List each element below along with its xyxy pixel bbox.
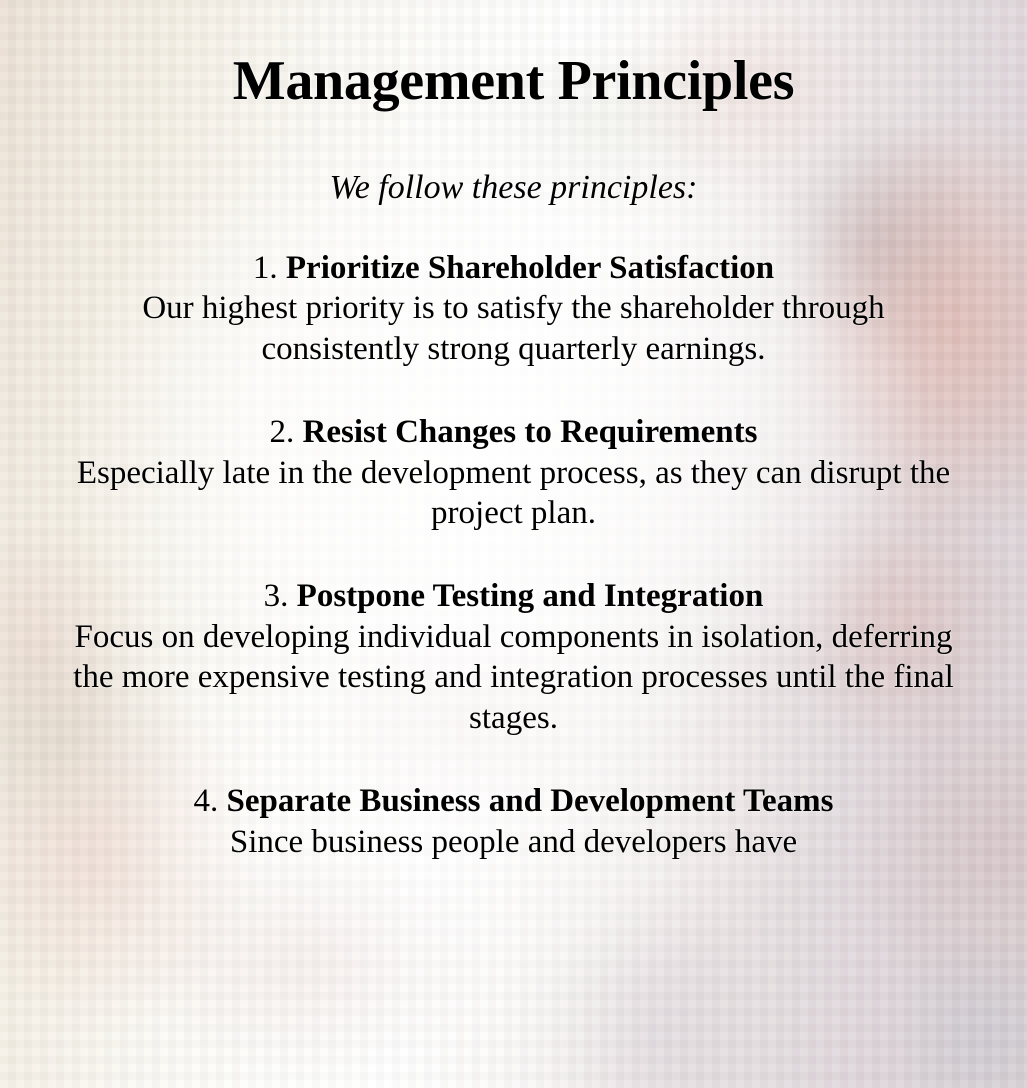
principle-title: Postpone Testing and Integration	[297, 578, 764, 614]
principle-item: 1. Prioritize Shareholder Satisfaction O…	[0, 248, 1027, 370]
principle-number: 2.	[270, 414, 295, 450]
principle-number: 1.	[253, 250, 278, 286]
principles-list: 1. Prioritize Shareholder Satisfaction O…	[0, 248, 1027, 862]
principle-number: 4.	[194, 783, 219, 819]
principle-heading: 4. Separate Business and Development Tea…	[0, 781, 1027, 821]
slide-canvas: Management Principles We follow these pr…	[0, 0, 1027, 1088]
principle-number: 3.	[264, 578, 289, 614]
principle-body: Especially late in the development proce…	[69, 453, 959, 535]
slide-content: Management Principles We follow these pr…	[0, 0, 1027, 1088]
principle-item: 2. Resist Changes to Requirements Especi…	[0, 412, 1027, 534]
principle-title: Resist Changes to Requirements	[303, 414, 758, 450]
principle-item: 4. Separate Business and Development Tea…	[0, 781, 1027, 862]
principle-item: 3. Postpone Testing and Integration Focu…	[0, 576, 1027, 739]
slide-title: Management Principles	[0, 0, 1027, 111]
principle-body: Our highest priority is to satisfy the s…	[69, 288, 959, 370]
principle-heading: 2. Resist Changes to Requirements	[0, 412, 1027, 452]
principle-body: Focus on developing individual component…	[69, 617, 959, 740]
principle-heading: 3. Postpone Testing and Integration	[0, 576, 1027, 616]
principle-title: Prioritize Shareholder Satisfaction	[286, 250, 774, 286]
principle-title: Separate Business and Development Teams	[227, 783, 834, 819]
principle-heading: 1. Prioritize Shareholder Satisfaction	[0, 248, 1027, 288]
slide-subtitle: We follow these principles:	[0, 111, 1027, 206]
principle-body: Since business people and developers hav…	[69, 822, 959, 863]
